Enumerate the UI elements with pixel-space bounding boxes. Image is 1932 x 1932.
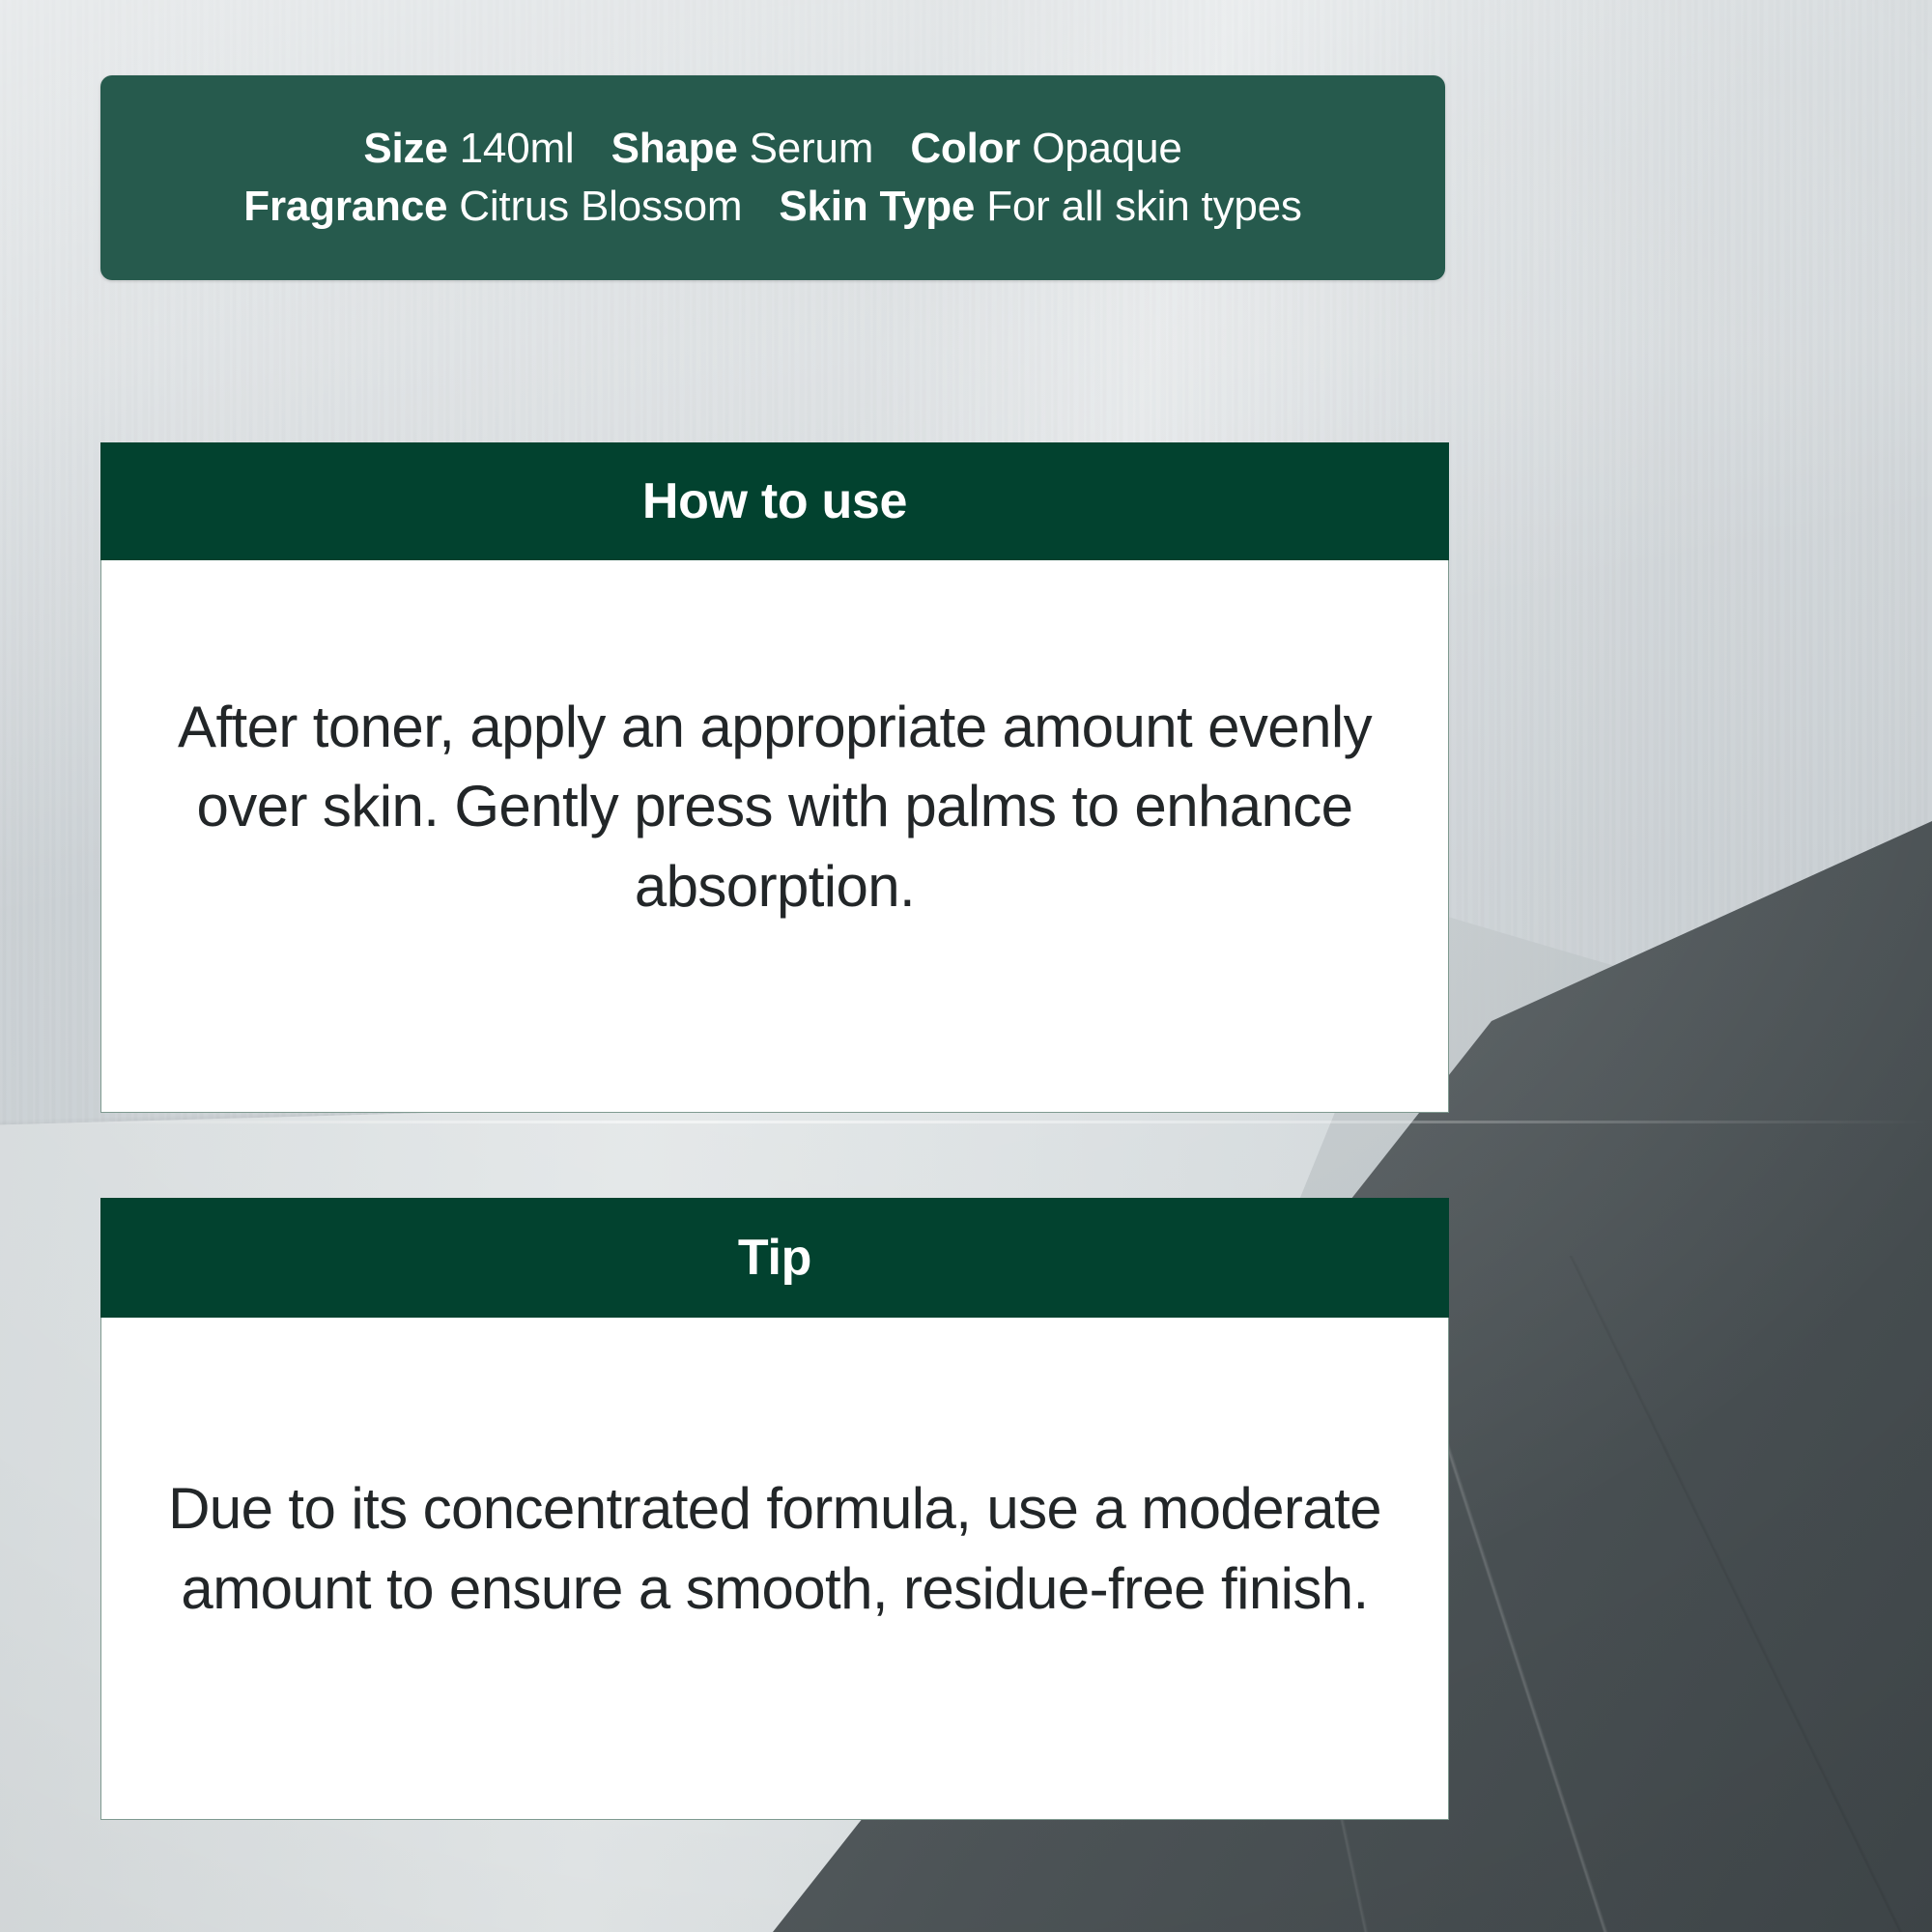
spec-key-size: Size (363, 125, 447, 172)
how-to-use-card-body: After toner, apply an appropriate amount… (100, 560, 1449, 1113)
content-layer: Size 140ml Shape Serum Color Opaque Frag… (0, 0, 1932, 1932)
how-to-use-card-title: How to use (642, 472, 907, 530)
tip-card-header: Tip (100, 1198, 1449, 1318)
spec-value-fragrance: Citrus Blossom (459, 183, 742, 230)
product-spec-band: Size 140ml Shape Serum Color Opaque Frag… (100, 75, 1445, 280)
spec-value-size: 140ml (460, 125, 575, 172)
tip-card-title: Tip (738, 1229, 811, 1287)
how-to-use-card-header: How to use (100, 442, 1449, 560)
spec-key-shape: Shape (611, 125, 738, 172)
spec-key-fragrance: Fragrance (243, 183, 447, 230)
tip-card-text: Due to its concentrated formula, use a m… (101, 1469, 1448, 1628)
spec-line-1: Size 140ml Shape Serum Color Opaque (126, 120, 1420, 178)
spec-value-color: Opaque (1032, 125, 1181, 172)
spec-value-skin-type: For all skin types (986, 183, 1302, 230)
spec-key-color: Color (910, 125, 1020, 172)
spec-key-skin-type: Skin Type (779, 183, 975, 230)
tip-card: Tip Due to its concentrated formula, use… (100, 1198, 1449, 1820)
spec-line-2: Fragrance Citrus Blossom Skin Type For a… (126, 178, 1420, 236)
product-spec-text: Size 140ml Shape Serum Color Opaque Frag… (100, 120, 1445, 237)
spec-value-shape: Serum (750, 125, 874, 172)
how-to-use-card-text: After toner, apply an appropriate amount… (101, 688, 1448, 926)
tip-card-body: Due to its concentrated formula, use a m… (100, 1318, 1449, 1820)
how-to-use-card: How to use After toner, apply an appropr… (100, 442, 1449, 1113)
